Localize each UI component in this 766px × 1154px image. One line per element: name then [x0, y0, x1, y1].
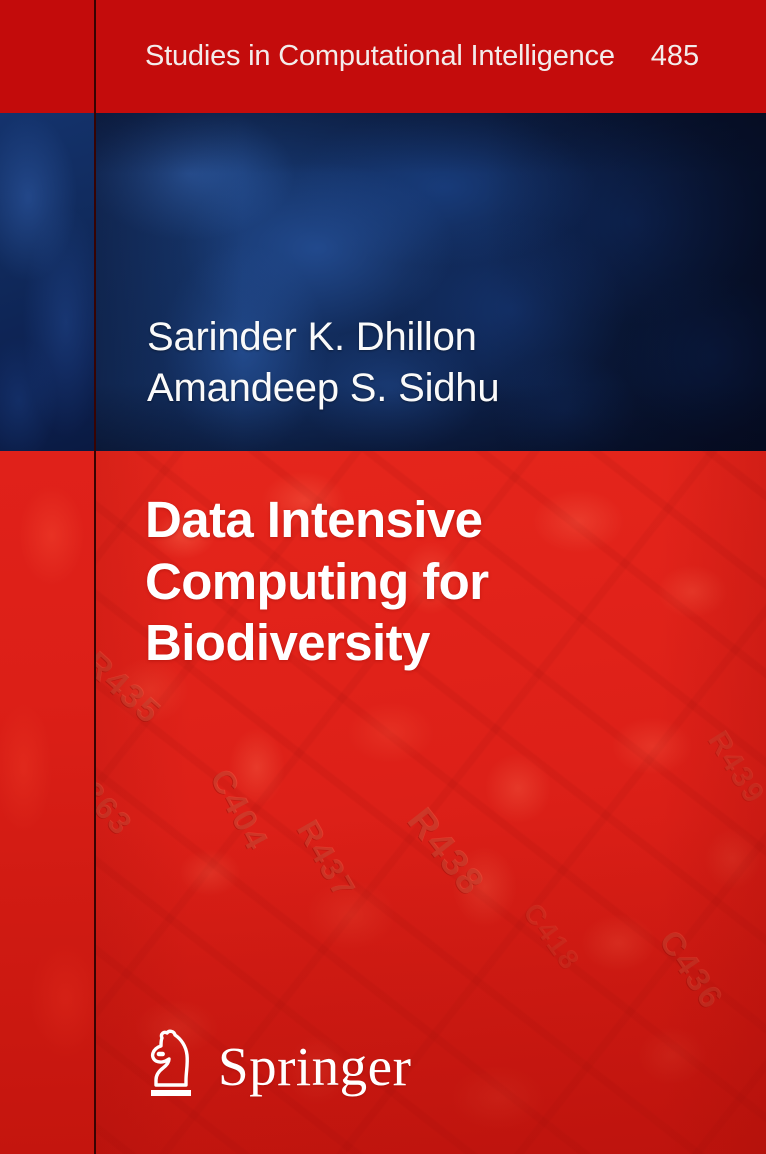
spine-blue-block [0, 113, 94, 451]
series-header: Studies in Computational Intelligence 48… [145, 0, 699, 113]
springer-wordmark: Springer [218, 1039, 411, 1094]
series-volume-number: 485 [651, 40, 699, 73]
book-title: Data Intensive Computing for Biodiversit… [145, 489, 745, 674]
author-name-1: Sarinder K. Dhillon [147, 312, 499, 363]
title-line-2: Computing for [145, 551, 745, 613]
springer-knight-icon [140, 1028, 202, 1104]
author-block: Sarinder K. Dhillon Amandeep S. Sidhu [147, 312, 499, 414]
title-line-3: Biodiversity [145, 612, 745, 674]
spine-divider-line [94, 0, 96, 1154]
book-cover: Studies in Computational Intelligence 48… [0, 0, 766, 1154]
author-name-2: Amandeep S. Sidhu [147, 363, 499, 414]
title-line-1: Data Intensive [145, 489, 745, 551]
publisher-logo: Springer [140, 1028, 411, 1104]
spine-red-block [0, 451, 94, 1154]
series-title: Studies in Computational Intelligence [145, 40, 615, 73]
